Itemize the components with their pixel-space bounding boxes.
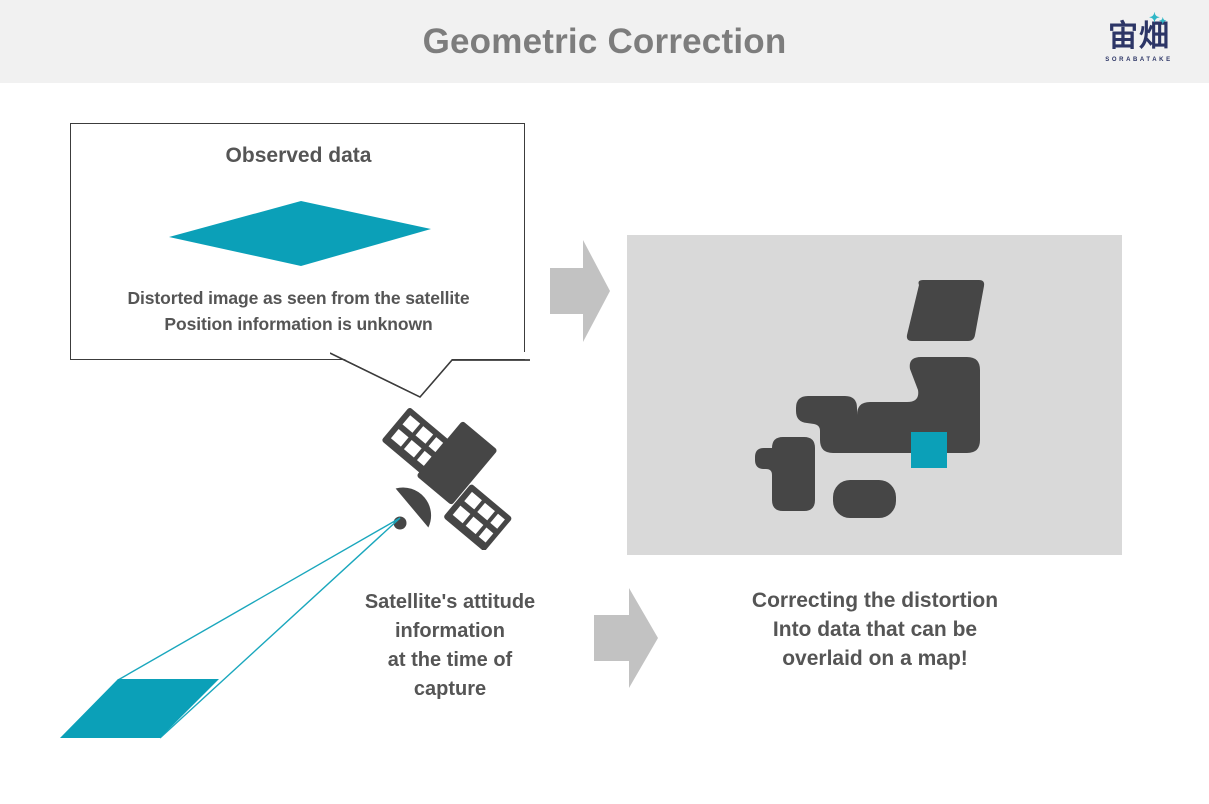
corrected-caption-line-2: Into data that can be <box>660 615 1090 644</box>
corrected-map-graphic <box>627 235 1122 555</box>
brand-logo: ✦ ✦ 宙畑 SORABATAKE <box>1087 12 1191 72</box>
attitude-caption-line-2: information <box>325 617 575 646</box>
brand-logo-subtitle: SORABATAKE <box>1105 57 1172 63</box>
page-title: Geometric Correction <box>0 0 1209 83</box>
arrow-right-icon-bottom <box>594 588 658 688</box>
observed-caption-line-1: Distorted image as seen from the satelli… <box>71 285 526 311</box>
brand-logo-mark: 宙畑 <box>1108 22 1170 52</box>
observed-data-title: Observed data <box>71 144 526 168</box>
observed-caption-line-2: Position information is unknown <box>71 311 526 337</box>
attitude-caption-line-4: capture <box>325 675 575 704</box>
attitude-caption-line-3: at the time of <box>325 646 575 675</box>
corrected-caption-line-3: overlaid on a map! <box>660 644 1090 673</box>
corrected-image-panel <box>627 235 1122 555</box>
distorted-rhombus-shape <box>169 201 431 266</box>
satellite-attitude-caption: Satellite's attitude information at the … <box>325 588 575 704</box>
corrected-image-caption: Correcting the distortion Into data that… <box>660 586 1090 673</box>
highlight-square <box>911 432 947 468</box>
sparkle-small-icon: ✦ <box>1159 17 1167 26</box>
ground-swath-shape <box>50 665 235 750</box>
arrow-right-icon-top <box>550 240 610 342</box>
callout-tail <box>330 352 530 408</box>
observed-data-caption: Distorted image as seen from the satelli… <box>71 285 526 337</box>
attitude-caption-line-1: Satellite's attitude <box>325 588 575 617</box>
corrected-caption-line-1: Correcting the distortion <box>660 586 1090 615</box>
observed-data-callout: Observed data Distorted image as seen fr… <box>70 123 525 360</box>
